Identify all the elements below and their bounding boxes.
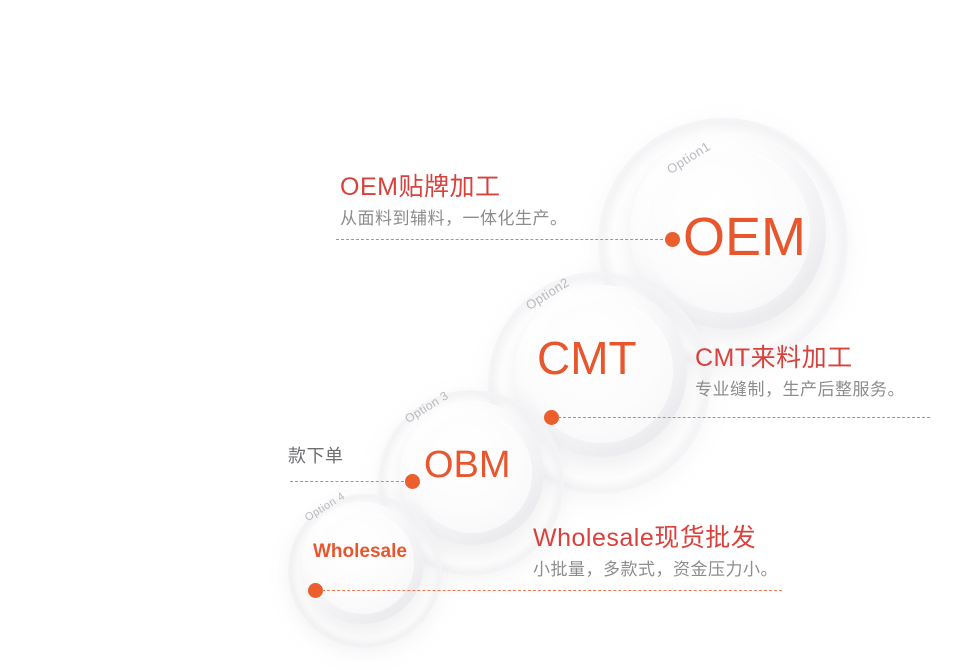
sphere-label-oem: OEM [683, 206, 806, 268]
connector-line-oem [336, 239, 673, 240]
connector-line-cmt [558, 417, 930, 418]
sphere-label-obm: OBM [424, 444, 511, 487]
subtext-wholesale: 小批量，多款式，资金压力小。 [533, 557, 778, 583]
heading-wholesale: Wholesale现货批发 [533, 523, 778, 553]
text-block-cmt: CMT来料加工 专业缝制，生产后整服务。 [695, 343, 905, 403]
heading-cmt: CMT来料加工 [695, 343, 905, 373]
text-block-oem: OEM贴牌加工 从面料到辅料，一体化生产。 [340, 172, 568, 232]
connector-dot-wholesale[interactable] [308, 583, 323, 598]
infographic-canvas: Option1 OEM OEM贴牌加工 从面料到辅料，一体化生产。 Option… [0, 0, 960, 670]
text-block-wholesale: Wholesale现货批发 小批量，多款式，资金压力小。 [533, 523, 778, 583]
sphere-label-cmt: CMT [537, 331, 637, 385]
connector-line-wholesale [322, 590, 782, 591]
subtext-oem: 从面料到辅料，一体化生产。 [340, 206, 568, 232]
heading-obm: 款下单 [288, 442, 344, 468]
subtext-cmt: 专业缝制，生产后整服务。 [695, 377, 905, 403]
sphere-label-wholesale: Wholesale [313, 541, 407, 563]
sphere-wholesale[interactable] [302, 502, 424, 624]
connector-dot-obm[interactable] [405, 474, 420, 489]
connector-dot-cmt[interactable] [544, 410, 559, 425]
heading-oem: OEM贴牌加工 [340, 172, 568, 202]
sphere-inner-wholesale [312, 512, 414, 614]
connector-dot-oem[interactable] [665, 232, 680, 247]
connector-line-obm [290, 481, 409, 482]
